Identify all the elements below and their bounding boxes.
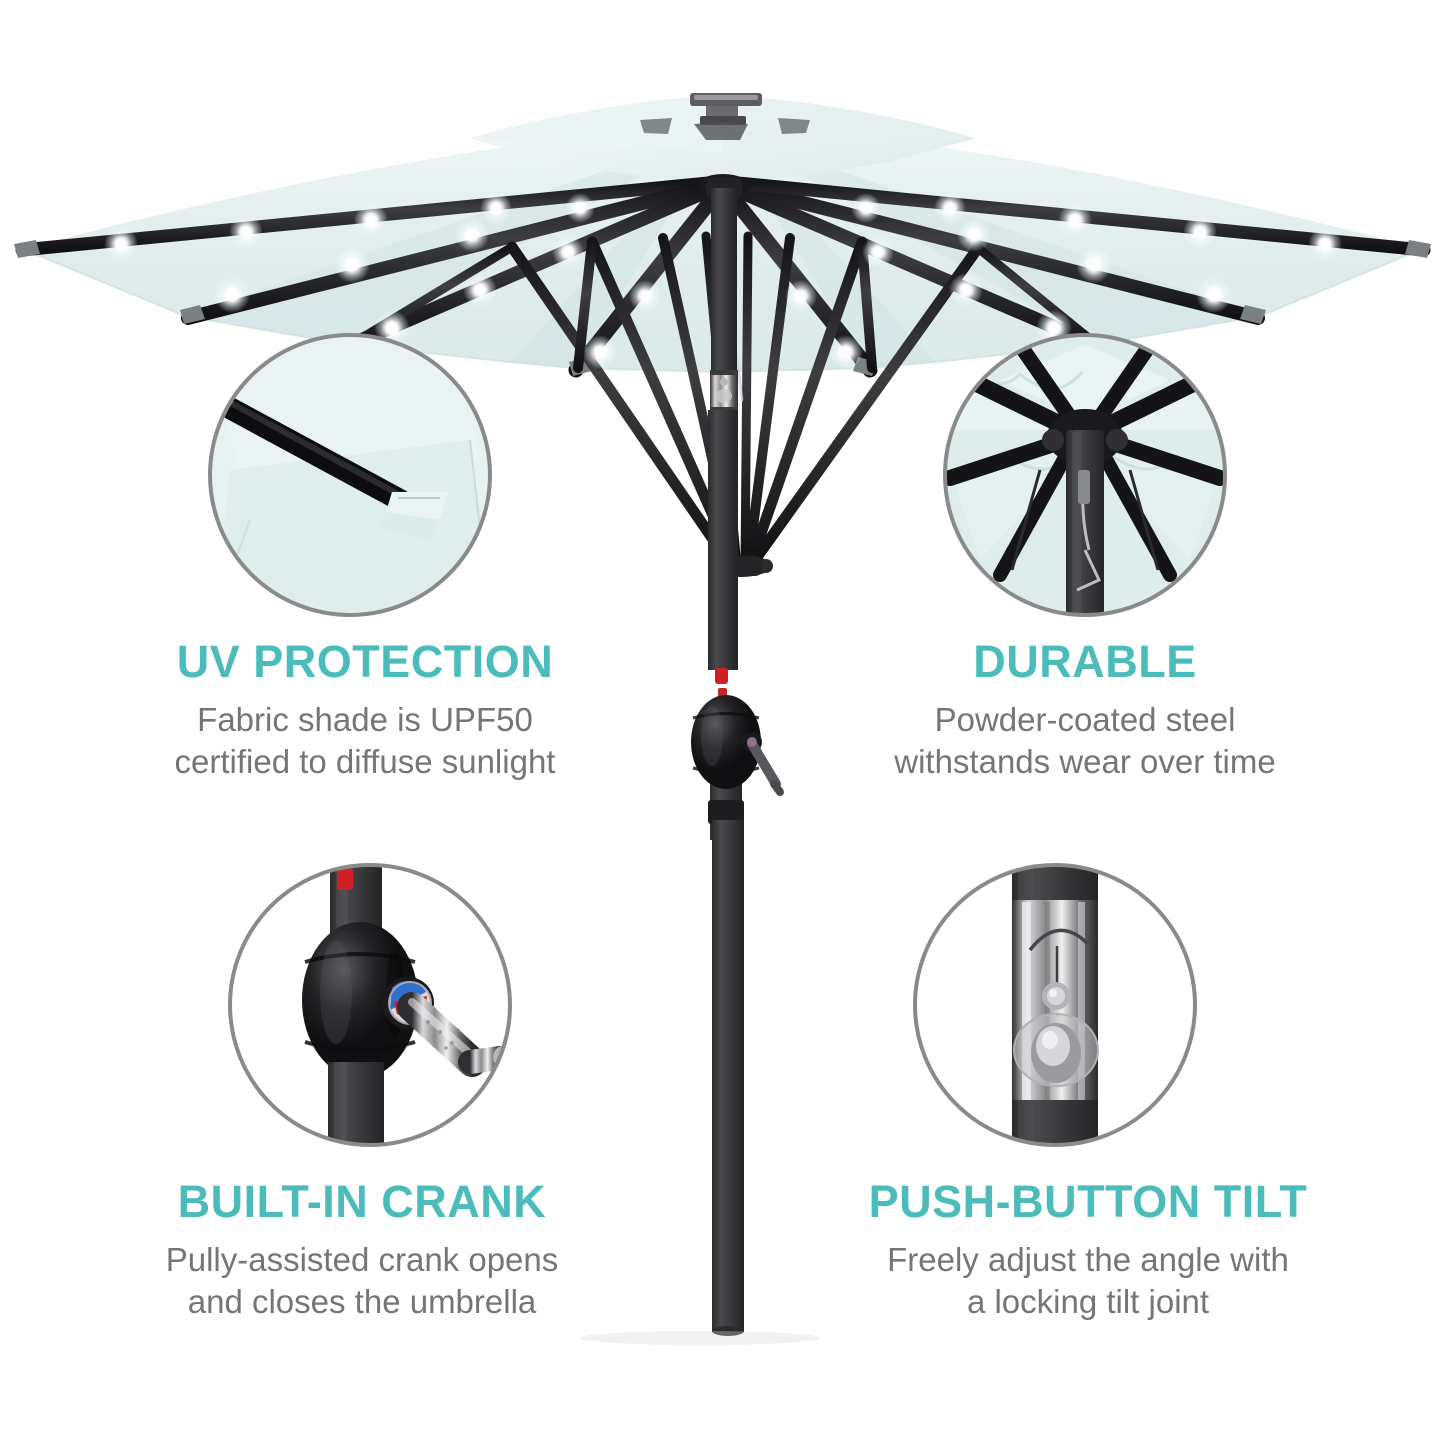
feature-desc-line: Powder-coated steel xyxy=(755,699,1415,741)
feature-description: Freely adjust the angle with a locking t… xyxy=(748,1239,1428,1323)
feature-push-button-tilt: PUSH-BUTTON TILT Freely adjust the angle… xyxy=(748,1178,1428,1324)
feature-desc-line: Freely adjust the angle with xyxy=(748,1239,1428,1281)
feature-desc-line: a locking tilt joint xyxy=(748,1281,1428,1323)
feature-desc-line: Fabric shade is UPF50 xyxy=(30,699,700,741)
feature-title: BUILT-IN CRANK xyxy=(22,1178,702,1225)
callout-built-in-crank xyxy=(230,865,513,1157)
feature-title: DURABLE xyxy=(755,638,1415,685)
feature-description: Powder-coated steel withstands wear over… xyxy=(755,699,1415,783)
feature-description: Pully-assisted crank opens and closes th… xyxy=(22,1239,702,1323)
callout-uv-protection xyxy=(210,335,490,615)
feature-built-in-crank: BUILT-IN CRANK Pully-assisted crank open… xyxy=(22,1178,702,1324)
feature-desc-line: Pully-assisted crank opens xyxy=(22,1239,702,1281)
warning-label xyxy=(715,668,728,684)
feature-title: PUSH-BUTTON TILT xyxy=(748,1178,1428,1225)
feature-durable: DURABLE Powder-coated steel withstands w… xyxy=(755,638,1415,784)
feature-title: UV PROTECTION xyxy=(30,638,700,685)
feature-desc-line: and closes the umbrella xyxy=(22,1281,702,1323)
feature-desc-line: certified to diffuse sunlight xyxy=(30,741,700,783)
feature-uv-protection: UV PROTECTION Fabric shade is UPF50 cert… xyxy=(30,638,700,784)
infographic-stage: UV PROTECTION Fabric shade is UPF50 cert… xyxy=(0,0,1445,1445)
callout-push-button-tilt xyxy=(915,860,1195,1160)
feature-desc-line: withstands wear over time xyxy=(755,741,1415,783)
feature-description: Fabric shade is UPF50 certified to diffu… xyxy=(30,699,700,783)
callout-durable xyxy=(945,335,1225,620)
